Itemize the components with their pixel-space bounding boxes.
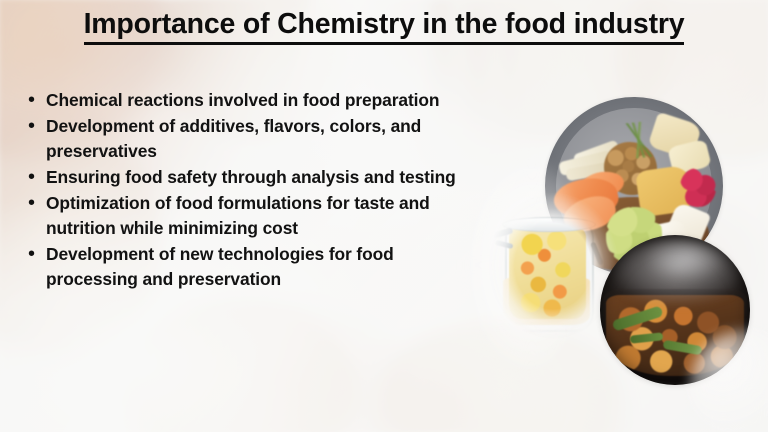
slide: Importance of Chemistry in the food indu… bbox=[0, 0, 768, 432]
stir-fry-photo bbox=[600, 235, 750, 385]
photo-cluster bbox=[0, 0, 768, 432]
